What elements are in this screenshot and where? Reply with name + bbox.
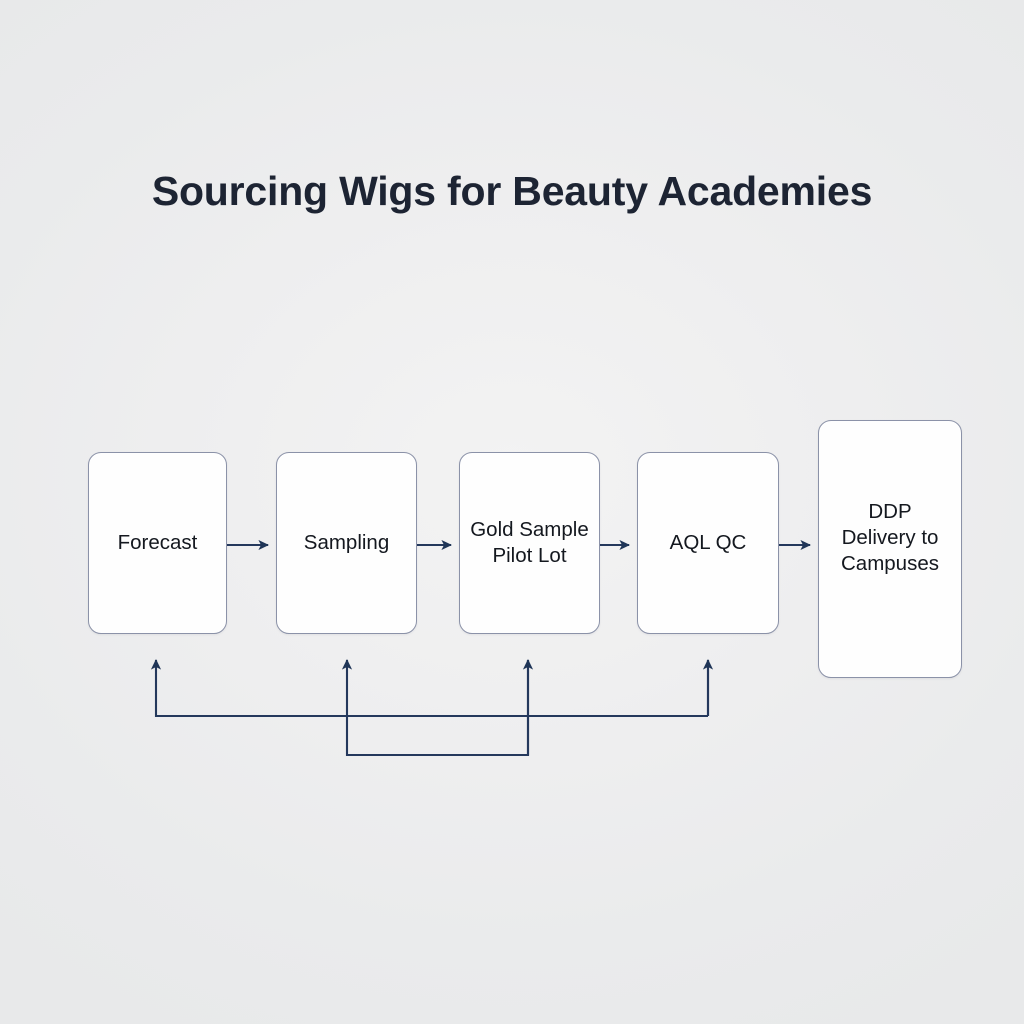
node-label-sampling: Sampling bbox=[296, 530, 397, 556]
node-sampling[interactable]: Sampling bbox=[276, 452, 417, 634]
feedback-connector-gold-sample-to-sampling bbox=[347, 660, 528, 755]
node-aql-qc[interactable]: AQL QC bbox=[637, 452, 779, 634]
node-label-aql-qc: AQL QC bbox=[662, 530, 755, 556]
node-label-forecast: Forecast bbox=[110, 530, 206, 556]
node-label-ddp-delivery-to-campuses: DDP Delivery to Campuses bbox=[833, 499, 947, 577]
feedback-connector-aql-qc-to-forecast bbox=[156, 660, 708, 716]
node-label-gold-sample-pilot-lot: Gold Sample Pilot Lot bbox=[462, 517, 597, 569]
node-ddp-delivery-to-campuses[interactable]: DDP Delivery to Campuses bbox=[818, 420, 962, 678]
diagram-canvas: Sourcing Wigs for Beauty Academies bbox=[0, 0, 1024, 1024]
node-gold-sample-pilot-lot[interactable]: Gold Sample Pilot Lot bbox=[459, 452, 600, 634]
node-forecast[interactable]: Forecast bbox=[88, 452, 227, 634]
